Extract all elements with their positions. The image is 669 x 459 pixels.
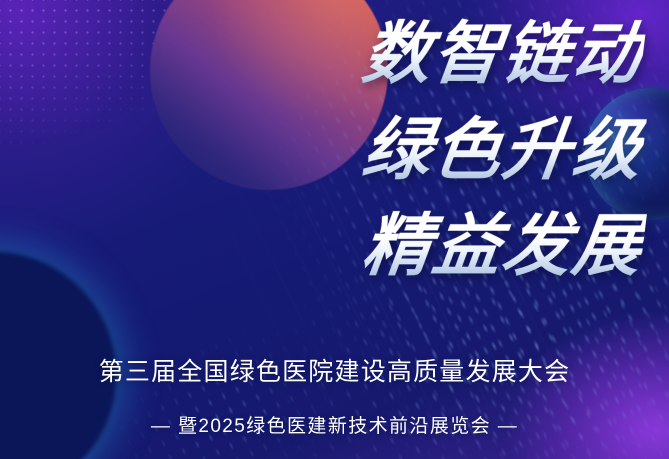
headline-line-2: 绿色升级 <box>0 102 649 198</box>
conference-name: 第三届全国绿色医院建设高质量发展大会 <box>0 356 669 388</box>
poster-headline: 数智链动 绿色升级 精益发展 <box>0 6 643 294</box>
exhibition-tagline: — 暨2025绿色医建新技术前沿展览会 — <box>0 414 669 440</box>
headline-line-1: 数智链动 <box>0 6 649 102</box>
headline-line-3: 精益发展 <box>0 198 649 294</box>
conference-poster: 数智链动 绿色升级 精益发展 第三届全国绿色医院建设高质量发展大会 — 暨202… <box>0 0 669 459</box>
